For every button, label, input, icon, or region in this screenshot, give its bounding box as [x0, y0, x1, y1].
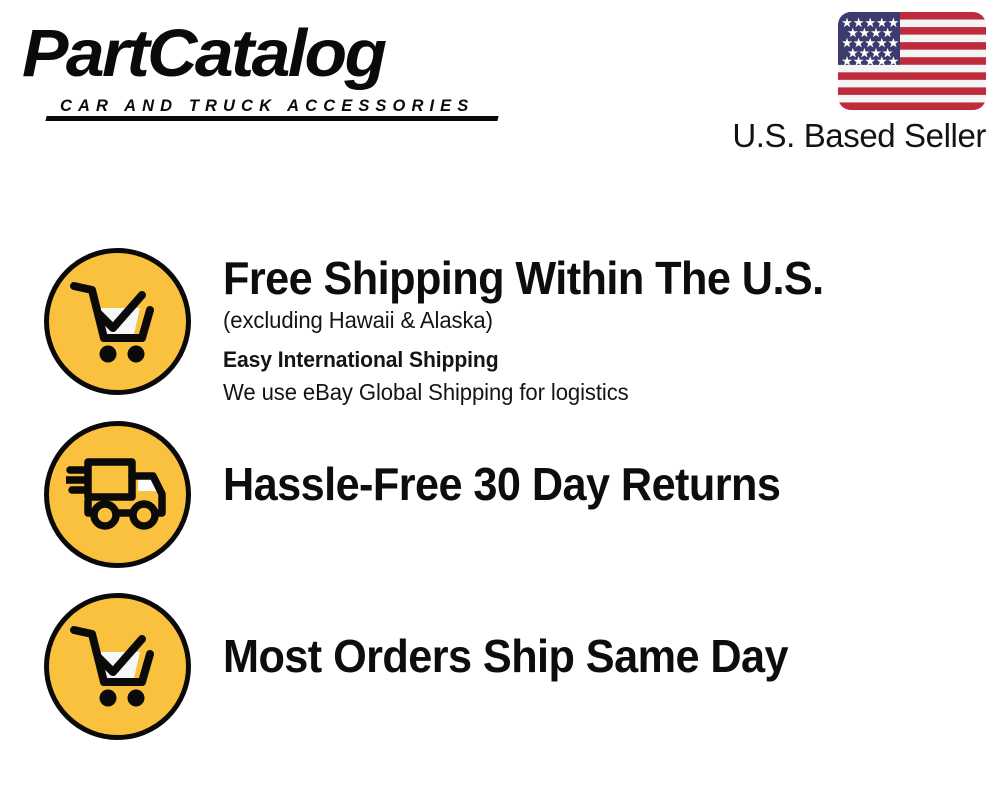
- brand-logo[interactable]: PartCatalog CAR AND TRUCK ACCESSORIES: [22, 18, 492, 113]
- logo-underline-bar: [45, 116, 498, 121]
- feature-sub-title: Easy International Shipping: [223, 344, 933, 376]
- us-flag-icon: [838, 12, 986, 110]
- brand-tagline: CAR AND TRUCK ACCESSORIES: [60, 97, 474, 115]
- delivery-truck-icon: [44, 421, 191, 568]
- shopping-cart-check-icon: [44, 248, 191, 395]
- feature-text-block: Hassle-Free 30 Day Returns: [223, 458, 963, 510]
- feature-row: Most Orders Ship Same Day: [0, 592, 1000, 740]
- brand-wordmark: PartCatalog: [22, 18, 384, 90]
- shopping-cart-check-icon: [44, 593, 191, 740]
- page-header: PartCatalog CAR AND TRUCK ACCESSORIES: [0, 0, 1000, 170]
- feature-text-block: Free Shipping Within The U.S. (excluding…: [223, 252, 963, 408]
- us-based-seller-label: U.S. Based Seller: [732, 117, 986, 155]
- feature-sub-detail: We use eBay Global Shipping for logistic…: [223, 376, 933, 408]
- feature-headline: Free Shipping Within The U.S.: [223, 252, 919, 304]
- feature-headline: Hassle-Free 30 Day Returns: [223, 458, 919, 510]
- feature-headline: Most Orders Ship Same Day: [223, 630, 919, 682]
- feature-list: Free Shipping Within The U.S. (excluding…: [0, 170, 1000, 800]
- feature-row: Free Shipping Within The U.S. (excluding…: [0, 248, 1000, 395]
- feature-row: Hassle-Free 30 Day Returns: [0, 420, 1000, 568]
- feature-text-block: Most Orders Ship Same Day: [223, 630, 963, 682]
- feature-sub-note: (excluding Hawaii & Alaska): [223, 304, 933, 336]
